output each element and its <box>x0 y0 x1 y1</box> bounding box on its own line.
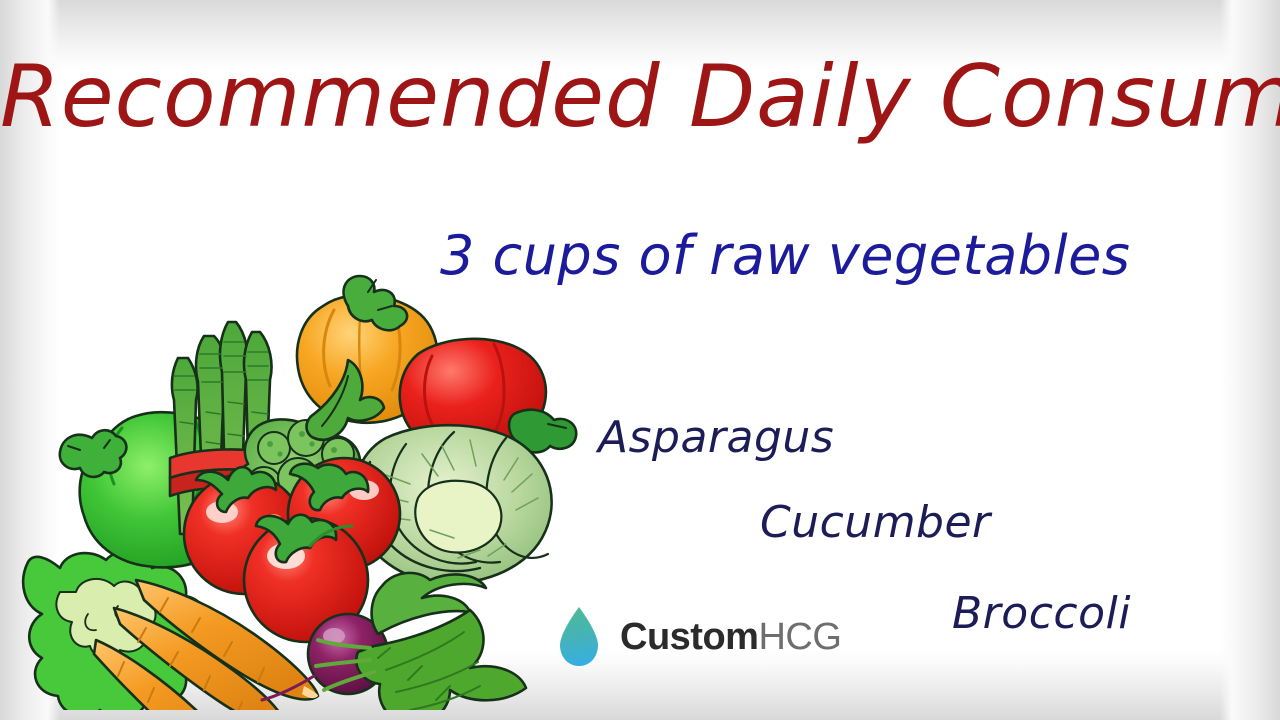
vegetable-illustration <box>18 262 598 710</box>
serving-subtitle: 3 cups of raw vegetables <box>440 228 1130 285</box>
brand-logo: CustomHCG <box>556 606 841 668</box>
page-title: Recommended Daily Consumption <box>0 52 1280 142</box>
water-drop-icon <box>556 606 602 668</box>
brand-name-light: HCG <box>758 616 841 658</box>
vegetable-list-item-broccoli: Broccoli <box>952 588 1131 639</box>
vegetable-list-item-asparagus: Asparagus <box>598 412 834 463</box>
slide-canvas: Recommended Daily Consumption 3 cups of … <box>0 0 1280 720</box>
brand-name: CustomHCG <box>620 618 841 656</box>
vegetable-list-item-cucumber: Cucumber <box>760 497 991 548</box>
brand-name-bold: Custom <box>620 616 758 658</box>
